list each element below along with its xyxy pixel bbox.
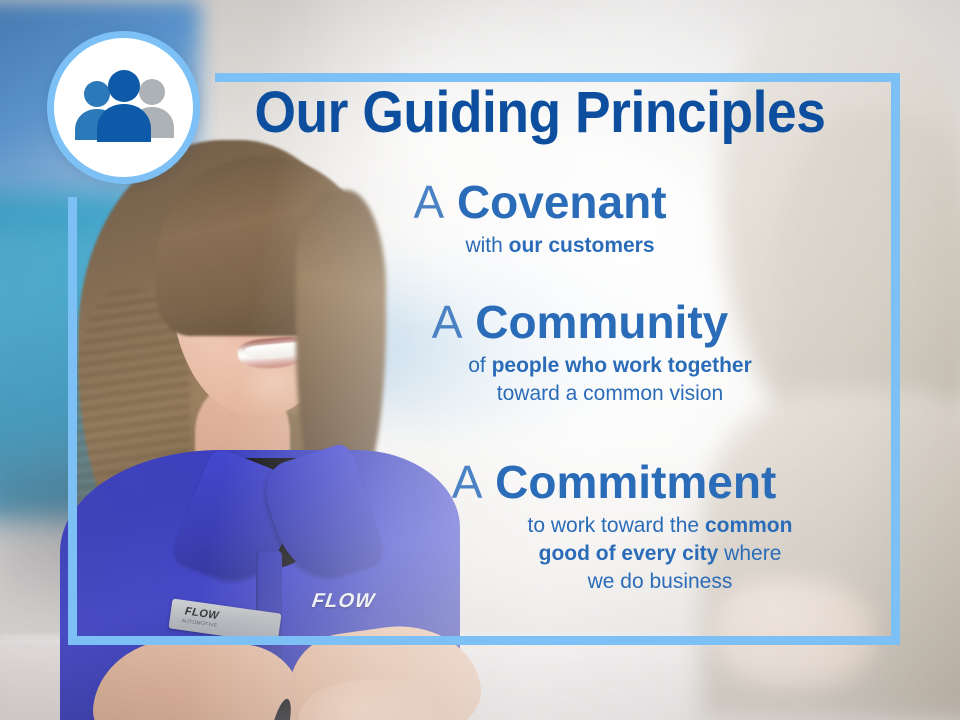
principle-community-word: Community — [475, 296, 728, 348]
covenant-sub-bold: our customers — [509, 234, 655, 257]
principle-community-subtext: of people who work together toward a com… — [230, 352, 930, 408]
principle-covenant-article: A — [413, 176, 444, 228]
guiding-principles-graphic: FLOW AUTOMOTIVE FLOW — [0, 0, 960, 720]
principle-covenant-subtext: with our customers — [190, 232, 890, 260]
covenant-sub-plain: with — [465, 234, 508, 257]
commitment-sub-bold1: common — [705, 514, 793, 537]
principle-covenant-word: Covenant — [457, 176, 667, 228]
principle-community: A Community of people who work together … — [230, 298, 930, 408]
principle-covenant: A Covenant with our customers — [190, 178, 890, 260]
commitment-sub-line3: we do business — [588, 570, 733, 593]
principle-community-heading: A Community — [230, 298, 930, 348]
commitment-sub-bold2: good of every city — [539, 542, 719, 565]
headline-block: Our Guiding Principles — [200, 84, 880, 152]
principle-covenant-heading: A Covenant — [190, 178, 890, 228]
principle-community-article: A — [432, 296, 463, 348]
commitment-sub-plain2: where — [718, 542, 781, 565]
people-group-icon — [69, 69, 179, 147]
page-title: Our Guiding Principles — [227, 84, 853, 142]
principle-commitment-heading: A Commitment — [250, 458, 950, 508]
principle-commitment-article: A — [452, 456, 483, 508]
community-sub-plain: of — [468, 354, 491, 377]
principle-commitment-word: Commitment — [495, 456, 776, 508]
people-group-badge — [47, 31, 200, 184]
principle-commitment: A Commitment to work toward the common g… — [250, 458, 950, 596]
community-sub-line2: toward a common vision — [497, 382, 723, 405]
community-sub-bold: people who work together — [492, 354, 752, 377]
principle-commitment-subtext: to work toward the common good of every … — [250, 512, 950, 596]
commitment-sub-plain1: to work toward the — [528, 514, 705, 537]
